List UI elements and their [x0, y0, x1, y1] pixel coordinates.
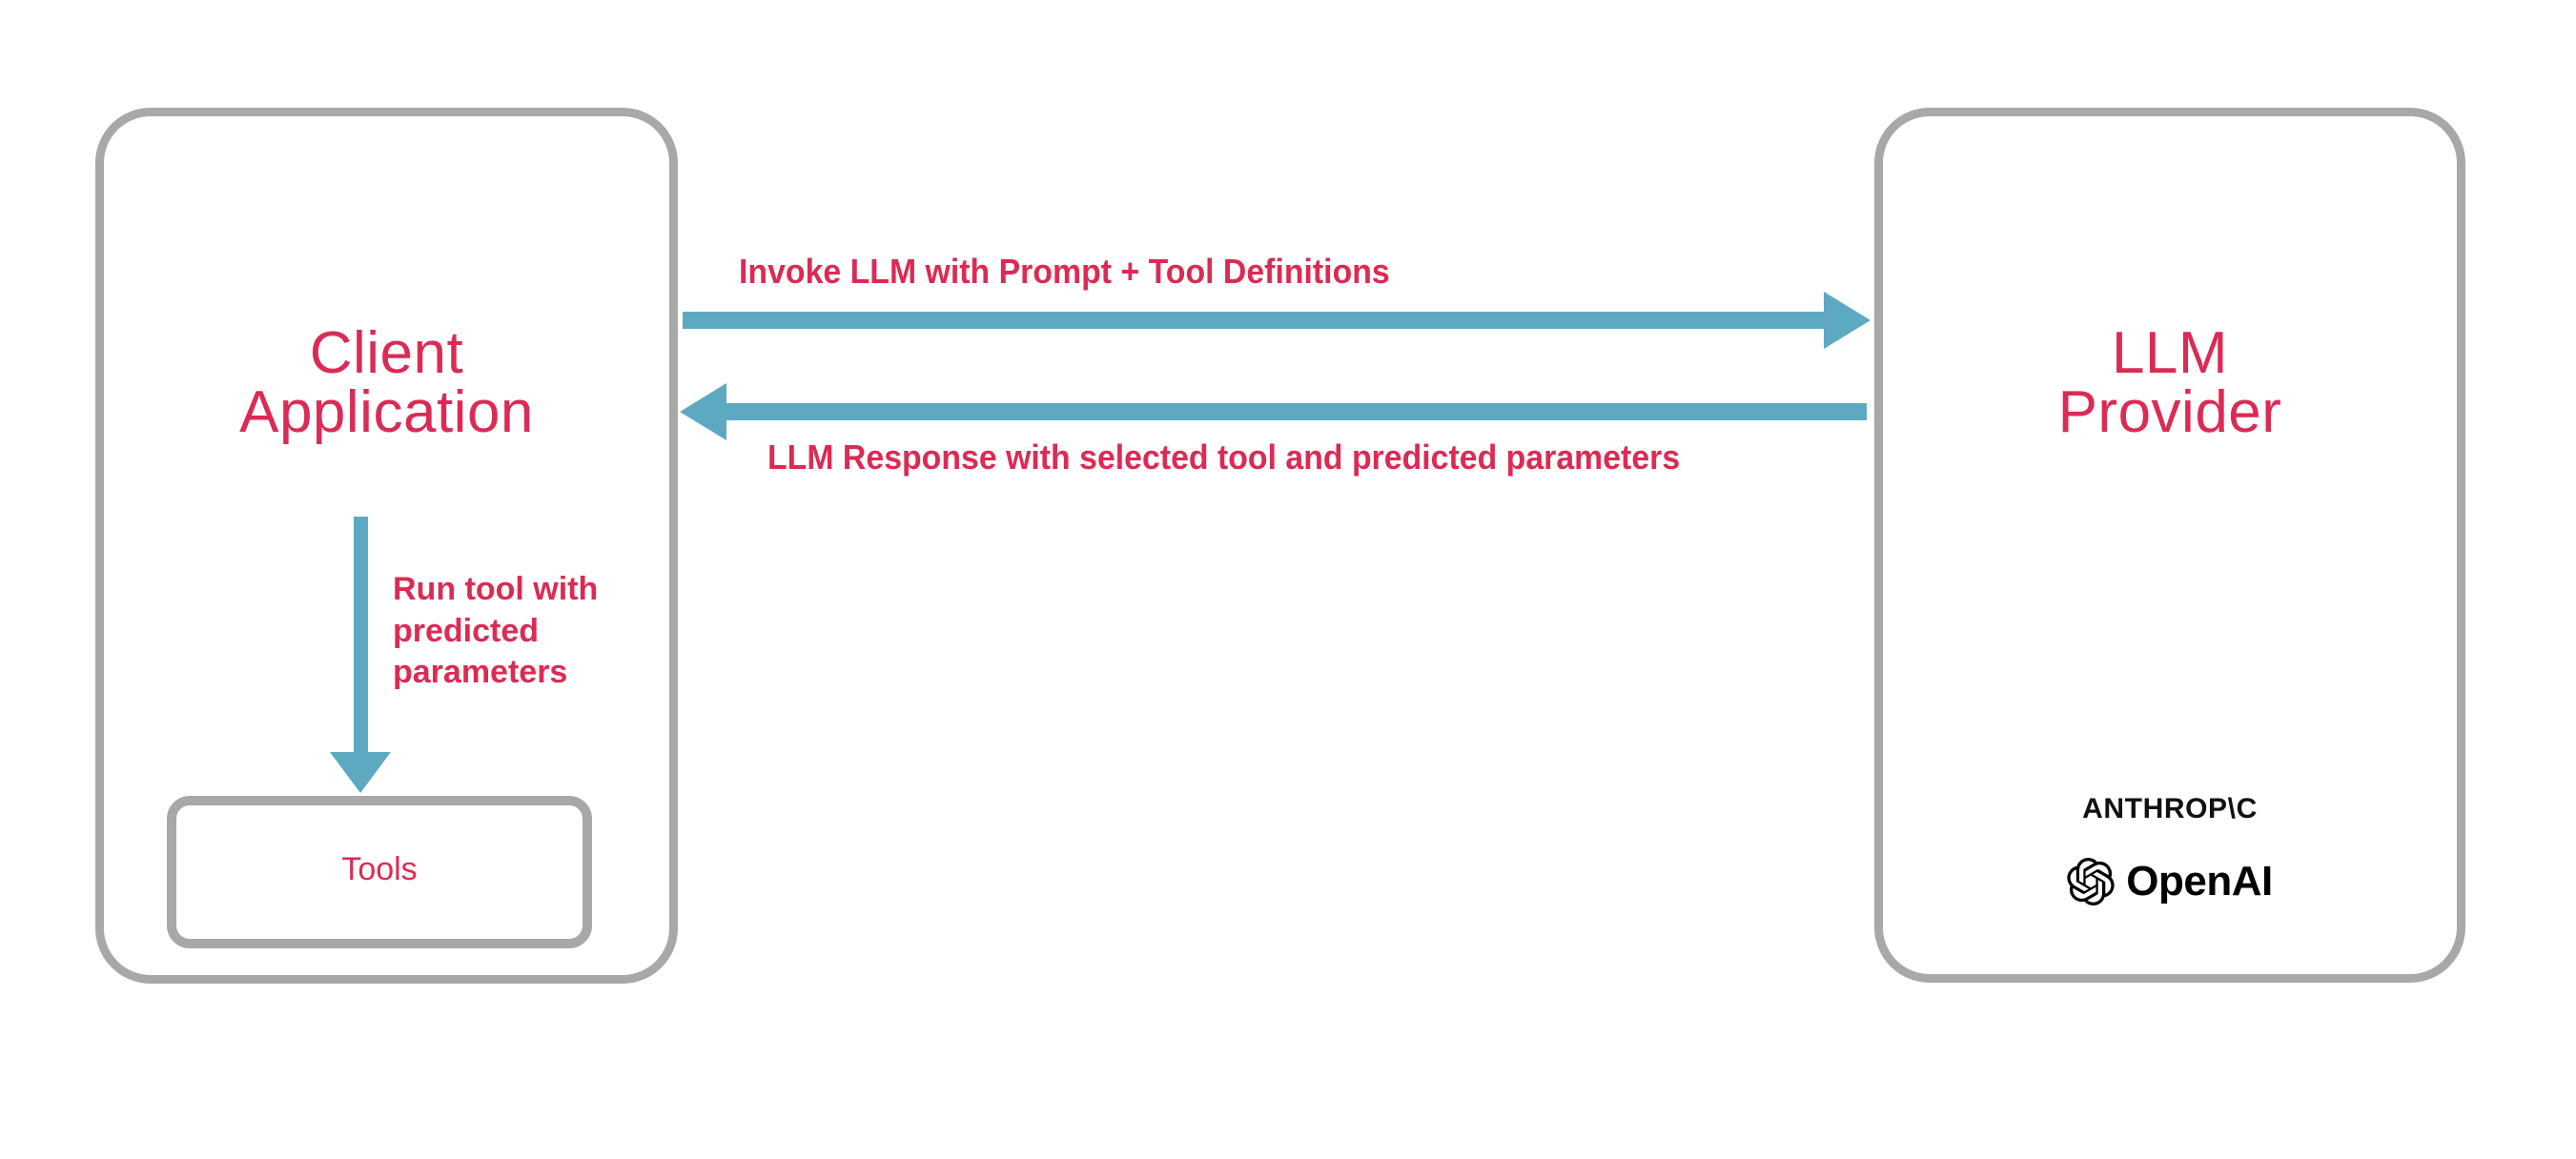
tools-label: Tools	[167, 851, 592, 888]
invoke-edge-label: Invoke LLM with Prompt + Tool Definition…	[739, 252, 1390, 292]
response-arrow	[680, 383, 1867, 440]
invoke-arrow	[683, 292, 1871, 349]
llm-provider-title: LLM Provider	[1874, 324, 2465, 442]
diagram-canvas: Client Application Tools LLM Provider In…	[0, 0, 2576, 1159]
llm-provider-box	[1874, 108, 2465, 983]
openai-wordmark: OpenAI	[2126, 858, 2272, 905]
openai-logo: OpenAI	[1874, 858, 2465, 905]
anthropic-logo: ANTHROP\C	[1874, 793, 2465, 825]
run-tool-edge-label: Run tool with predicted parameters	[393, 569, 660, 694]
openai-mark-icon	[2067, 858, 2115, 905]
response-edge-label: LLM Response with selected tool and pred…	[767, 437, 1680, 478]
client-application-title: Client Application	[95, 324, 678, 442]
